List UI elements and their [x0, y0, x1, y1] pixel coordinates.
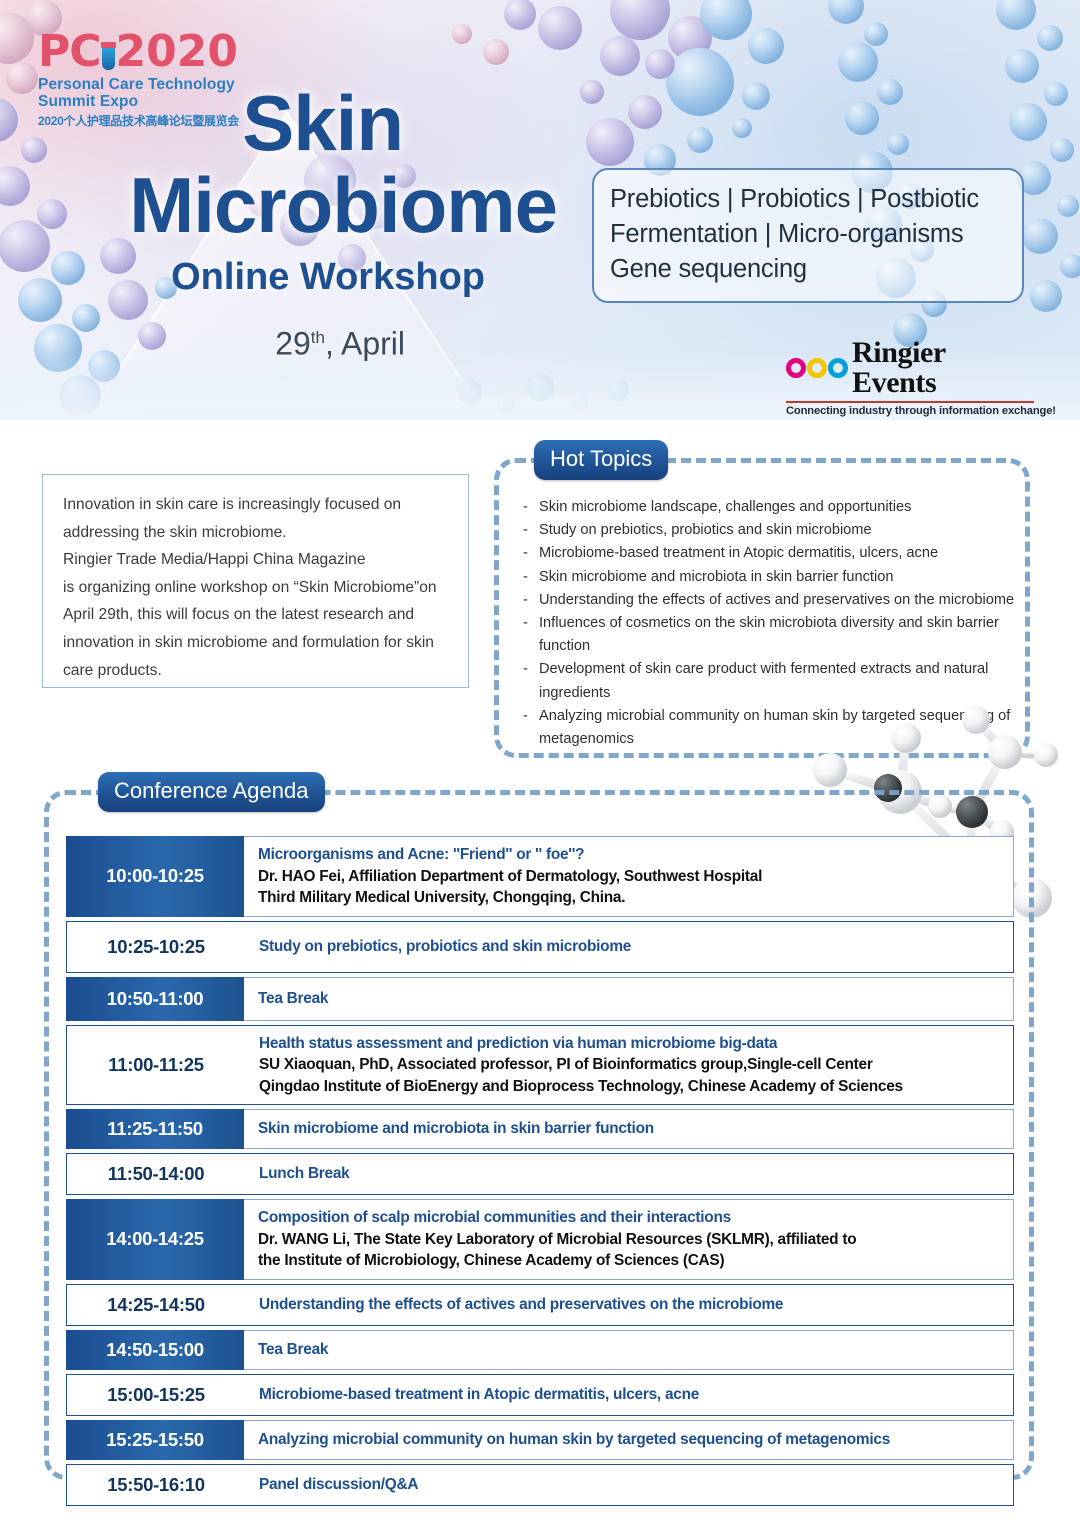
pct-logo-year: 2020 [116, 26, 238, 77]
agenda-row-time: 14:25-14:50 [67, 1285, 245, 1325]
agenda-row-title: Tea Break [258, 1339, 1003, 1361]
agenda-row-desc: Tea Break [244, 1330, 1014, 1370]
agenda-row-title: Lunch Break [259, 1163, 1003, 1185]
hero-title-block: Skin Microbiome Online Workshop 29th, Ap… [0, 84, 575, 364]
agenda-row-desc: Composition of scalp microbial communiti… [244, 1199, 1014, 1280]
agenda-row-title: Panel discussion/Q&A [259, 1474, 1003, 1496]
hot-topic-item: Skin microbiome and microbiota in skin b… [522, 566, 1022, 589]
ringier-dot-magenta [786, 358, 806, 378]
agenda-row[interactable]: 11:25-11:50 Skin microbiome and microbio… [66, 1109, 1014, 1149]
agenda-row-desc: Panel discussion/Q&A [245, 1465, 1013, 1505]
agenda-row[interactable]: 14:00-14:25 Composition of scalp microbi… [66, 1199, 1014, 1280]
agenda-row-time: 11:00-11:25 [67, 1026, 245, 1105]
hot-topic-item: Influences of cosmetics on the skin micr… [522, 612, 1022, 658]
ringier-events-logo: Ringier Events Connecting industry throu… [786, 338, 1034, 417]
agenda-row[interactable]: 11:50-14:00 Lunch Break [66, 1153, 1014, 1195]
hot-topic-item: Development of skin care product with fe… [522, 658, 1022, 704]
agenda-row-speaker2: Qingdao Institute of BioEnergy and Biopr… [259, 1076, 1003, 1098]
ringier-name: Ringier Events [852, 338, 1034, 398]
agenda-row-speaker2: Third Military Medical University, Chong… [258, 887, 1003, 909]
hot-topic-item: Microbiome-based treatment in Atopic der… [522, 542, 1022, 565]
hero-date-suffix: th [311, 328, 325, 347]
agenda-row-time: 10:50-11:00 [66, 977, 244, 1021]
agenda-row-time: 11:50-14:00 [67, 1154, 245, 1194]
agenda-row-desc: Lunch Break [245, 1154, 1013, 1194]
agenda-row-title: Microorganisms and Acne: ''Friend'' or '… [258, 844, 1003, 866]
agenda-rows: 10:00-10:25 Microorganisms and Acne: ''F… [66, 836, 1014, 1510]
hot-topic-item: Understanding the effects of actives and… [522, 589, 1022, 612]
intro-box: Innovation in skin care is increasingly … [42, 474, 469, 688]
agenda-row-desc: Microbiome-based treatment in Atopic der… [245, 1375, 1013, 1415]
hero-date-day: 29 [275, 326, 311, 362]
ringier-dot-yellow [807, 358, 827, 378]
hot-topics-list: Skin microbiome landscape, challenges an… [522, 496, 1022, 751]
hero-date: 29th, April [0, 318, 575, 364]
agenda-row-time: 10:25-10:25 [67, 922, 245, 972]
agenda-row[interactable]: 15:50-16:10 Panel discussion/Q&A [66, 1464, 1014, 1506]
agenda-row-title: Composition of scalp microbial communiti… [258, 1207, 1003, 1229]
agenda-row-title: Study on prebiotics, probiotics and skin… [259, 936, 1003, 958]
agenda-row-speaker1: Dr. HAO Fei, Affiliation Department of D… [258, 866, 1003, 888]
agenda-row-desc: Study on prebiotics, probiotics and skin… [245, 922, 1013, 972]
hero-subtitle: Online Workshop [0, 254, 575, 300]
agenda-row[interactable]: 15:25-15:50 Analyzing microbial communit… [66, 1420, 1014, 1460]
intro-line-1: Innovation in skin care is increasingly … [63, 491, 450, 519]
hot-topics-chip: Hot Topics [534, 440, 668, 480]
hot-topic-item: Skin microbiome landscape, challenges an… [522, 496, 1022, 519]
intro-line-7: care products. [63, 657, 450, 685]
agenda-row-desc: Skin microbiome and microbiota in skin b… [244, 1109, 1014, 1149]
agenda-row-title: Health status assessment and prediction … [259, 1033, 1003, 1055]
hot-topics-panel: Hot Topics Skin microbiome landscape, ch… [494, 458, 1030, 758]
test-tube-icon [102, 40, 115, 70]
agenda-row[interactable]: 10:50-11:00 Tea Break [66, 977, 1014, 1021]
agenda-row-time: 10:00-10:25 [66, 836, 244, 917]
agenda-row-time: 15:00-15:25 [67, 1375, 245, 1415]
intro-line-4: is organizing online workshop on “Skin M… [63, 574, 450, 602]
agenda-row-time: 15:50-16:10 [67, 1465, 245, 1505]
pct-logo-letter-c: C [69, 26, 100, 77]
agenda-row-title: Understanding the effects of actives and… [259, 1294, 1003, 1316]
keywords-box: Prebiotics | Probiotics | Postbiotic Fer… [592, 168, 1024, 303]
agenda-chip: Conference Agenda [98, 772, 325, 812]
header-banner: PC2020 Personal Care Technology Summit E… [0, 0, 1080, 420]
agenda-row-desc: Microorganisms and Acne: ''Friend'' or '… [244, 836, 1014, 917]
agenda-row-time: 14:50-15:00 [66, 1330, 244, 1370]
agenda-row-desc: Health status assessment and prediction … [245, 1026, 1013, 1105]
agenda-row-desc: Analyzing microbial community on human s… [244, 1420, 1014, 1460]
intro-line-6: innovation in skin microbiome and formul… [63, 629, 450, 657]
agenda-row-title: Analyzing microbial community on human s… [258, 1429, 1003, 1451]
hot-topic-item: Study on prebiotics, probiotics and skin… [522, 519, 1022, 542]
agenda-row-speaker2: the Institute of Microbiology, Chinese A… [258, 1250, 1003, 1272]
agenda-row-desc: Understanding the effects of actives and… [245, 1285, 1013, 1325]
agenda-row-desc: Tea Break [244, 977, 1014, 1021]
agenda-row-title: Skin microbiome and microbiota in skin b… [258, 1118, 1003, 1140]
intro-line-2: addressing the skin microbiome. [63, 519, 450, 547]
hero-title-line1: Skin [0, 84, 575, 162]
agenda-row[interactable]: 15:00-15:25 Microbiome-based treatment i… [66, 1374, 1014, 1416]
ringier-dot-cyan [828, 358, 848, 378]
intro-line-5: April 29th, this will focus on the lates… [63, 601, 450, 629]
agenda-row[interactable]: 10:00-10:25 Microorganisms and Acne: ''F… [66, 836, 1014, 917]
hero-date-month: , April [325, 326, 405, 362]
keywords-line-3: Gene sequencing [610, 252, 1006, 287]
pct-logo-letters: P [38, 26, 69, 77]
agenda-row-time: 14:00-14:25 [66, 1199, 244, 1280]
keywords-line-1: Prebiotics | Probiotics | Postbiotic [610, 182, 1006, 217]
hot-topic-item: Analyzing microbial community on human s… [522, 705, 1022, 751]
agenda-row[interactable]: 14:50-15:00 Tea Break [66, 1330, 1014, 1370]
agenda-row-title: Microbiome-based treatment in Atopic der… [259, 1384, 1003, 1406]
agenda-row-speaker1: Dr. WANG Li, The State Key Laboratory of… [258, 1229, 1003, 1251]
agenda-row-title: Tea Break [258, 988, 1003, 1010]
agenda-row-speaker1: SU Xiaoquan, PhD, Associated professor, … [259, 1054, 1003, 1076]
agenda-row[interactable]: 14:25-14:50 Understanding the effects of… [66, 1284, 1014, 1326]
keywords-line-2: Fermentation | Micro-organisms [610, 217, 1006, 252]
agenda-row-time: 11:25-11:50 [66, 1109, 244, 1149]
ringier-dots-icon [786, 358, 848, 378]
agenda-row-time: 15:25-15:50 [66, 1420, 244, 1460]
poster-root: PC2020 Personal Care Technology Summit E… [0, 0, 1080, 1527]
agenda-row[interactable]: 10:25-10:25 Study on prebiotics, probiot… [66, 921, 1014, 973]
ringier-logo-row: Ringier Events [786, 338, 1034, 398]
pct-logo-wordmark: PC2020 [38, 30, 273, 74]
agenda-panel: Conference Agenda 10:00-10:25 Microorgan… [44, 790, 1034, 1480]
ringier-tagline: Connecting industry through information … [786, 405, 1034, 417]
agenda-row[interactable]: 11:00-11:25 Health status assessment and… [66, 1025, 1014, 1106]
intro-line-3: Ringier Trade Media/Happi China Magazine [63, 546, 450, 574]
hero-title-line2: Microbiome [0, 162, 575, 248]
ringier-rule [786, 401, 1034, 403]
